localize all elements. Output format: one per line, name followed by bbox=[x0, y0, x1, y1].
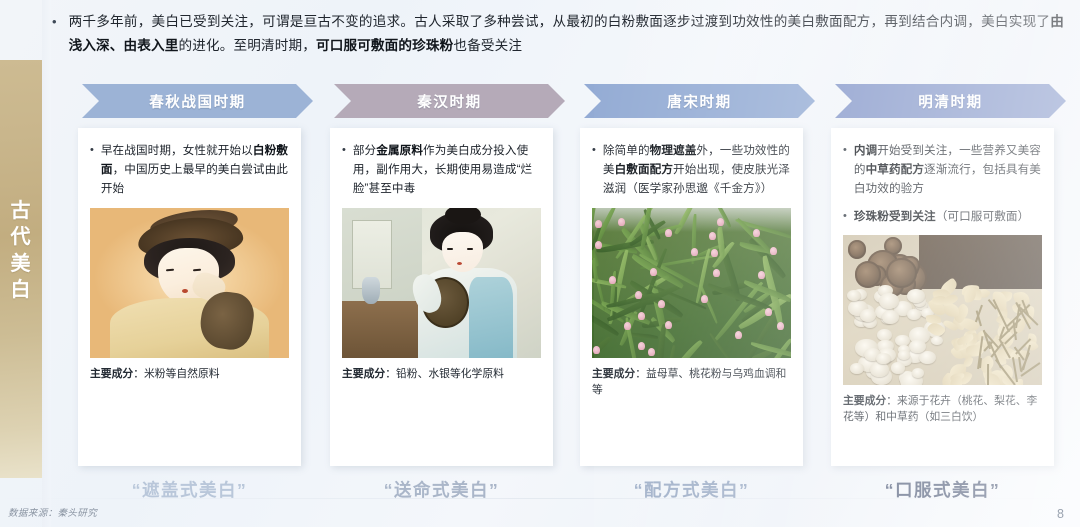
flower-shape bbox=[624, 322, 631, 330]
footer-divider bbox=[0, 498, 1080, 499]
card-body: •早在战国时期，女性就开始以白粉敷面，中国历史上最早的美白尝试由此开始 bbox=[78, 128, 301, 199]
flower-shape bbox=[650, 268, 657, 276]
bark-roll-shape bbox=[848, 240, 867, 259]
card-image-wrapper bbox=[831, 226, 1054, 391]
flower-shape bbox=[618, 218, 625, 226]
card-bullet-text: 除简单的物理遮盖外，一些功效性的美白敷面配方开始出现，使皮肤光泽滋润（医学家孙思… bbox=[603, 141, 791, 199]
flower-shape bbox=[665, 229, 672, 237]
card-ingredients-caption: 主要成分：益母草、桃花粉与乌鸡血调和等 bbox=[580, 364, 803, 411]
timeline-header-label: 秦汉时期 bbox=[417, 91, 481, 112]
card-ingredients-caption: 主要成分：铅粉、水银等化学原料 bbox=[330, 364, 553, 395]
root-slice-shape bbox=[907, 289, 925, 303]
card-bullet-item: •除简单的物理遮盖外，一些功效性的美白敷面配方开始出现，使皮肤光泽滋润（医学家孙… bbox=[592, 141, 791, 199]
card-image-wrapper bbox=[330, 199, 553, 364]
card-image-wrapper bbox=[580, 199, 803, 364]
intro-paragraph: • 两千多年前，美白已受到关注，可谓是亘古不变的追求。古人采取了多种尝试，从最初… bbox=[48, 10, 1064, 58]
emphasis-text: 中草药配方 bbox=[866, 163, 924, 176]
timeline-header-4[interactable]: 明清时期 bbox=[835, 84, 1066, 118]
card-body: •除简单的物理遮盖外，一些功效性的美白敷面配方开始出现，使皮肤光泽滋润（医学家孙… bbox=[580, 128, 803, 199]
ingredients-value: ：铅粉、水银等化学原料 bbox=[385, 368, 504, 380]
card-ingredients-caption: 主要成分：米粉等自然原料 bbox=[78, 364, 301, 395]
flower-shape bbox=[658, 300, 665, 308]
mouth-shape bbox=[182, 289, 188, 293]
root-slice-shape bbox=[879, 293, 900, 309]
root-slice-shape bbox=[891, 362, 905, 373]
flower-shape bbox=[711, 249, 718, 257]
timeline-card-3[interactable]: •除简单的物理遮盖外，一些功效性的美白敷面配方开始出现，使皮肤光泽滋润（医学家孙… bbox=[580, 128, 803, 466]
ingredients-label: 主要成分 bbox=[90, 368, 133, 380]
emphasis-text: 内调 bbox=[854, 144, 877, 157]
card-bullet-item: •早在战国时期，女性就开始以白粉敷面，中国历史上最早的美白尝试由此开始 bbox=[90, 141, 289, 199]
flower-shape bbox=[609, 276, 616, 284]
card-ingredients-caption: 主要成分：来源于花卉（桃花、梨花、李花等）和中草药（如三白饮） bbox=[831, 391, 1054, 438]
emphasis-text: 可口服可敷面的珍珠粉 bbox=[316, 38, 453, 53]
bullet-icon: • bbox=[90, 141, 94, 199]
flower-shape bbox=[595, 241, 602, 249]
timeline-card-4[interactable]: •内调开始受到关注，一些营养又美容的中草药配方逐渐流行，包括具有美白功效的验方•… bbox=[831, 128, 1054, 466]
card-bullet-text: 部分金属原料作为美白成分投入使用，副作用大，长期使用易造成“烂脸”甚至中毒 bbox=[353, 141, 541, 199]
flower-shape bbox=[638, 312, 645, 320]
root-slice-shape bbox=[909, 340, 925, 353]
dried-herbs-photo-image bbox=[843, 235, 1042, 385]
bullet-icon: • bbox=[342, 141, 346, 199]
timeline-card-2[interactable]: •部分金属原料作为美白成分投入使用，副作用大，长期使用易造成“烂脸”甚至中毒主要… bbox=[330, 128, 553, 466]
bullet-icon: • bbox=[843, 141, 847, 199]
card-bullet-text: 珍珠粉受到关注（可口服可敷面） bbox=[854, 207, 1029, 226]
card-body: •部分金属原料作为美白成分投入使用，副作用大，长期使用易造成“烂脸”甚至中毒 bbox=[330, 128, 553, 199]
eye2-shape bbox=[467, 248, 473, 250]
flower-shape bbox=[713, 269, 720, 277]
card-bullet-item: •内调开始受到关注，一些营养又美容的中草药配方逐渐流行，包括具有美白功效的验方 bbox=[843, 141, 1042, 199]
lip2-shape bbox=[457, 262, 462, 265]
leaf-shape bbox=[656, 324, 666, 357]
root-slice-shape bbox=[907, 309, 921, 320]
body-text: 两千多年前，美白已受到关注，可谓是亘古不变的追求。古人采取了多种尝试，从最初的白… bbox=[69, 14, 1051, 29]
page-number: 8 bbox=[1057, 507, 1064, 521]
flower-shape bbox=[638, 342, 645, 350]
emphasis-text: 珍珠粉受到关注 bbox=[854, 210, 936, 223]
flower-shape bbox=[691, 248, 698, 256]
vase-shape bbox=[362, 277, 380, 304]
root-slice-shape bbox=[931, 336, 943, 345]
flower-shape bbox=[701, 295, 708, 303]
leaf-shape bbox=[665, 345, 676, 358]
slide-canvas: 古 代 美 白 • 两千多年前，美白已受到关注，可谓是亘古不变的追求。古人采取了… bbox=[0, 0, 1080, 527]
ingredients-value: ：米粉等自然原料 bbox=[133, 368, 219, 380]
flower-shape bbox=[758, 271, 765, 279]
timeline-header-label: 春秋战国时期 bbox=[149, 91, 246, 112]
flower-shape bbox=[777, 322, 784, 330]
root-slice-shape bbox=[919, 351, 936, 364]
body-text: （可口服可敷面） bbox=[936, 210, 1030, 223]
body-text: 的进化。至明清时期， bbox=[179, 38, 316, 53]
root-slice-shape bbox=[850, 363, 863, 373]
ingredients-label: 主要成分 bbox=[592, 368, 635, 380]
timeline-header-label: 明清时期 bbox=[918, 91, 982, 112]
root-slice-shape bbox=[912, 368, 924, 378]
timeline-header-row: 春秋战国时期秦汉时期唐宋时期明清时期 bbox=[0, 84, 1080, 118]
dried-grass-shape bbox=[987, 364, 989, 385]
body-text: 也备受关注 bbox=[453, 38, 522, 53]
section-tab-label: 古 代 美 白 bbox=[0, 198, 42, 304]
table-shape bbox=[342, 301, 430, 358]
bullet-icon: • bbox=[843, 207, 847, 226]
flower-shape bbox=[765, 308, 772, 316]
card-bullet-text: 早在战国时期，女性就开始以白粉敷面，中国历史上最早的美白尝试由此开始 bbox=[101, 141, 289, 199]
timeline-header-label: 唐宋时期 bbox=[667, 91, 731, 112]
lady-with-mirror-painting-image bbox=[342, 208, 541, 358]
eye2-shape bbox=[447, 248, 453, 250]
section-tab-ancient-whitening: 古 代 美 白 bbox=[0, 60, 42, 478]
flower-shape bbox=[753, 229, 760, 237]
dark-herb-region bbox=[919, 235, 1042, 289]
emphasis-text: 金属原料 bbox=[376, 144, 423, 157]
intro-text: 两千多年前，美白已受到关注，可谓是亘古不变的追求。古人采取了多种尝试，从最初的白… bbox=[69, 10, 1064, 58]
card-image-wrapper bbox=[78, 199, 301, 364]
emphasis-text: 物理遮盖 bbox=[650, 144, 697, 157]
flower-shape bbox=[770, 247, 777, 255]
flower-shape bbox=[595, 220, 602, 228]
root-slice-shape bbox=[898, 350, 910, 359]
flower-shape bbox=[717, 218, 724, 226]
ingredients-label: 主要成分 bbox=[342, 368, 385, 380]
flower-shape bbox=[593, 346, 600, 354]
flower-shape bbox=[665, 321, 672, 329]
root-slice-shape bbox=[882, 310, 899, 324]
card-bullet-item: •部分金属原料作为美白成分投入使用，副作用大，长期使用易造成“烂脸”甚至中毒 bbox=[342, 141, 541, 199]
sidebar-divider bbox=[42, 0, 51, 527]
tang-lady-painting-image bbox=[90, 208, 289, 358]
timeline-card-1[interactable]: •早在战国时期，女性就开始以白粉敷面，中国历史上最早的美白尝试由此开始主要成分：… bbox=[78, 128, 301, 466]
body-text: 除简单的 bbox=[603, 144, 650, 157]
sash-shape bbox=[469, 277, 513, 358]
body-text: 部分 bbox=[353, 144, 376, 157]
emphasis-text: 白敷面配方 bbox=[615, 163, 673, 176]
timeline-header-3[interactable]: 唐宋时期 bbox=[584, 84, 815, 118]
bark-roll-shape bbox=[886, 258, 916, 288]
timeline-header-1[interactable]: 春秋战国时期 bbox=[82, 84, 313, 118]
flower-shape bbox=[735, 331, 742, 339]
card-bullet-item: •珍珠粉受到关注（可口服可敷面） bbox=[843, 207, 1042, 226]
card-body: •内调开始受到关注，一些营养又美容的中草药配方逐渐流行，包括具有美白功效的验方•… bbox=[831, 128, 1054, 226]
flower-shape bbox=[648, 348, 655, 356]
body-text: ，中国历史上最早的美白尝试由此开始 bbox=[101, 163, 288, 195]
body-text: 早在战国时期，女性就开始以 bbox=[101, 144, 253, 157]
card-bullet-text: 内调开始受到关注，一些营养又美容的中草药配方逐渐流行，包括具有美白功效的验方 bbox=[854, 141, 1042, 199]
bullet-icon: • bbox=[592, 141, 596, 199]
timeline-header-2[interactable]: 秦汉时期 bbox=[334, 84, 565, 118]
face2-shape bbox=[442, 232, 484, 273]
source-note: 数据来源：秦头研究 bbox=[8, 505, 97, 519]
flower-shape bbox=[709, 232, 716, 240]
ingredients-label: 主要成分 bbox=[843, 395, 886, 407]
motherwort-plants-photo-image bbox=[592, 208, 791, 358]
